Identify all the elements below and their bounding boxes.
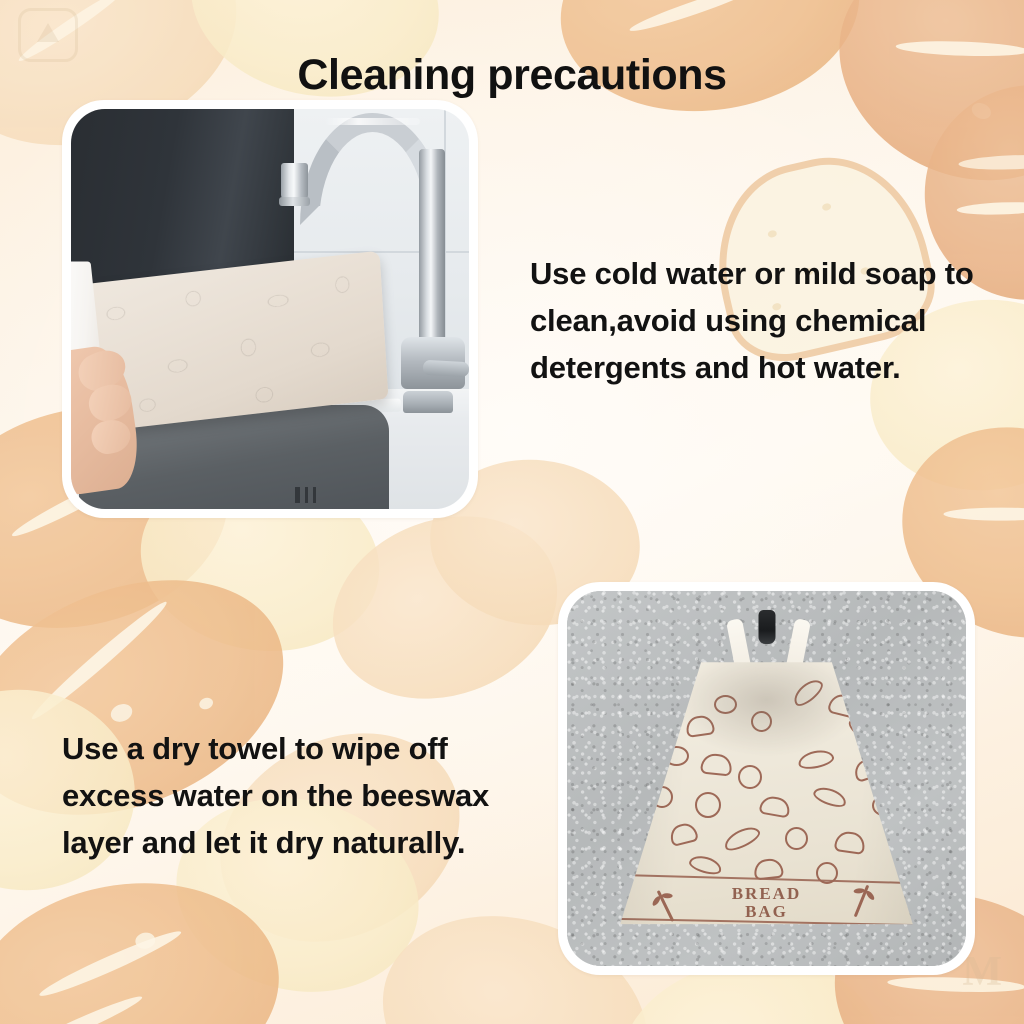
instruction-text-dry-towel: Use a dry towel to wipe off excess water… bbox=[62, 725, 512, 866]
sink-marking bbox=[295, 487, 321, 503]
photo-card-faucet bbox=[62, 100, 478, 518]
photo-bread-bag-image: BREAD BAG bbox=[567, 591, 966, 966]
page-title: Cleaning precautions bbox=[0, 51, 1024, 100]
photo-faucet-image bbox=[71, 109, 469, 509]
wall-hook bbox=[758, 610, 775, 644]
infographic-page: M Cleaning precautions bbox=[0, 0, 1024, 1024]
instruction-text-cold-water: Use cold water or mild soap to clean,avo… bbox=[530, 250, 1004, 391]
faucet-handle bbox=[423, 360, 469, 377]
faucet-base bbox=[403, 391, 453, 413]
faucet-spout bbox=[281, 163, 308, 200]
photo-card-bread-bag: BREAD BAG bbox=[558, 582, 975, 975]
